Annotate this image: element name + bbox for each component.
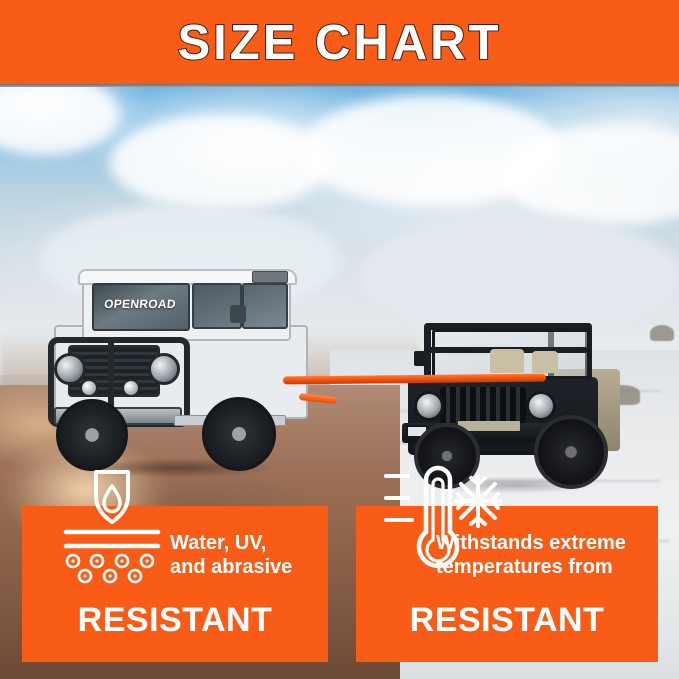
- feature-description-line2: and abrasive: [170, 556, 292, 578]
- suv-rear-window: [242, 283, 288, 329]
- jeep-seat: [490, 349, 524, 373]
- feature-headline: RESISTANT: [356, 600, 658, 640]
- headlight-left: [414, 391, 444, 421]
- side-mirror: [230, 305, 246, 323]
- bull-bar-strut: [108, 341, 114, 411]
- thermometer-snowflake-icon: [382, 460, 504, 586]
- banner-bottom-edge: [0, 84, 679, 87]
- water-repellent-shield-icon: [60, 466, 164, 584]
- jeep-seat: [532, 351, 558, 373]
- header-banner: SIZE CHART: [0, 0, 679, 85]
- page-title: SIZE CHART: [178, 15, 502, 71]
- rear-wheel: [534, 415, 608, 489]
- jeep-grille: [440, 387, 526, 423]
- side-mirror: [414, 351, 427, 366]
- rear-wheel: [202, 397, 276, 471]
- desert-bush: [650, 325, 674, 341]
- feature-description-line1: Water, UV,: [170, 532, 266, 554]
- feature-description: Water, UV, and abrasive: [170, 532, 330, 579]
- roof-hatch: [252, 271, 288, 283]
- size-chart-infographic: SIZE CHART: [0, 0, 679, 679]
- cloud-shape: [110, 115, 330, 210]
- front-wheel: [56, 399, 128, 471]
- feature-headline: RESISTANT: [22, 600, 328, 640]
- windshield-brand-text: OPENROAD: [93, 297, 186, 311]
- headlight-right: [526, 391, 556, 421]
